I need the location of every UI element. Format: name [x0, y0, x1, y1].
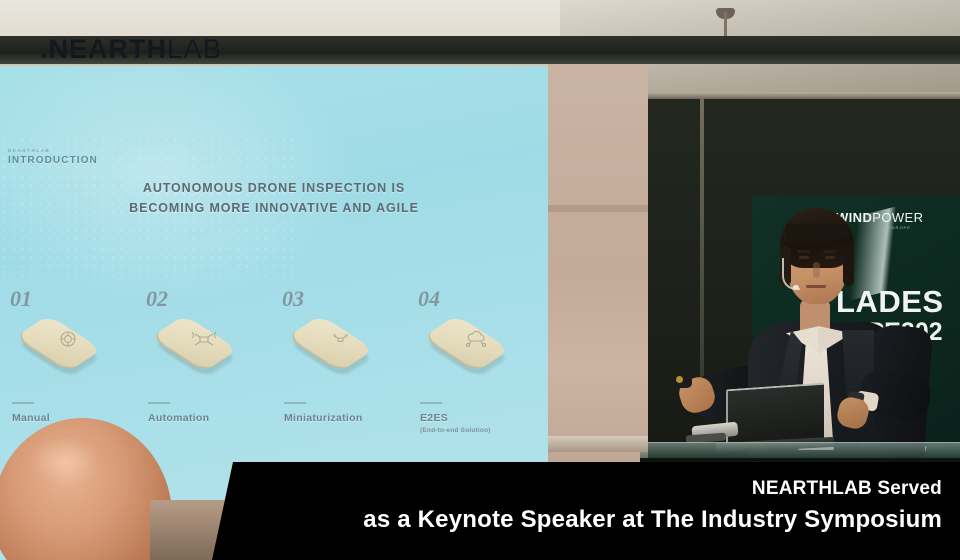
slide-step-02: 02 Automation: [140, 284, 276, 474]
table-edge-left: [548, 436, 648, 452]
logo-secondary: LAB: [167, 34, 223, 64]
screenshot-root: NEARTHLAB INTRODUCTION AUTONOMOUS DRONE …: [0, 0, 960, 560]
step-label: E2ES: [420, 412, 448, 424]
slide-eyebrow: NEARTHLAB: [8, 148, 50, 153]
step-card: [148, 302, 260, 372]
small-drone-icon: [322, 328, 358, 350]
slide-step-03: 03 Miniaturization: [276, 284, 412, 474]
step-card: [284, 302, 396, 372]
nearthlab-logo: .NEARTHLAB: [40, 34, 223, 65]
dark-wall-trim: [645, 92, 960, 99]
audience-head-highlight: [30, 436, 100, 486]
slide-section-label: INTRODUCTION: [8, 155, 98, 166]
cloud-network-icon: [458, 328, 494, 350]
backdrop-brand-thin: POWER: [872, 210, 923, 225]
speaker-eye-right: [825, 256, 835, 259]
slide-step-04: 04 E2ES (End-to-end Solution): [412, 284, 548, 474]
glass-table-top: [640, 442, 960, 459]
logo-primary: NEARTH: [49, 34, 168, 64]
speaker-eyebrow-left: [797, 250, 810, 253]
step-label: Manual: [12, 412, 50, 424]
clicker-button-icon: [676, 376, 683, 383]
slide-headline: AUTONOMOUS DRONE INSPECTION IS BECOMING …: [0, 178, 548, 218]
backdrop-title: LADES: [836, 284, 944, 320]
backdrop-brand-sub: EUROPE: [888, 225, 911, 230]
step-rule: [148, 402, 170, 404]
step-rule: [12, 402, 34, 404]
speaker-sideburn-right: [843, 246, 854, 286]
sprinkler-stem: [724, 12, 727, 36]
caption-line-1: NEARTHLAB Served: [752, 478, 942, 500]
step-rule: [284, 402, 306, 404]
slide-headline-line-2: BECOMING MORE INNOVATIVE AND AGILE: [0, 198, 548, 218]
caption-line-2: as a Keynote Speaker at The Industry Sym…: [363, 506, 942, 534]
headset-microphone-tip: [793, 285, 799, 290]
step-rule: [420, 402, 442, 404]
step-card: [420, 302, 532, 372]
step-label: Automation: [148, 412, 209, 424]
speaker-nose: [813, 262, 820, 278]
speaker-eyebrow-right: [823, 250, 836, 253]
step-sublabel: (End-to-end Solution): [420, 426, 494, 435]
dark-wall-seam: [700, 99, 704, 399]
drone-signal-icon: [186, 328, 222, 350]
step-label: Miniaturization: [284, 412, 363, 424]
slide-headline-line-1: AUTONOMOUS DRONE INSPECTION IS: [0, 178, 548, 198]
step-card: [12, 302, 124, 372]
backdrop-brand: WINDPOWER: [836, 210, 923, 225]
logo-dot: .: [40, 34, 49, 64]
beige-wall-band: [548, 205, 648, 212]
speaker-eye-left: [799, 256, 809, 259]
speaker-mouth: [806, 285, 826, 288]
gauge-dial-icon: [50, 328, 86, 350]
